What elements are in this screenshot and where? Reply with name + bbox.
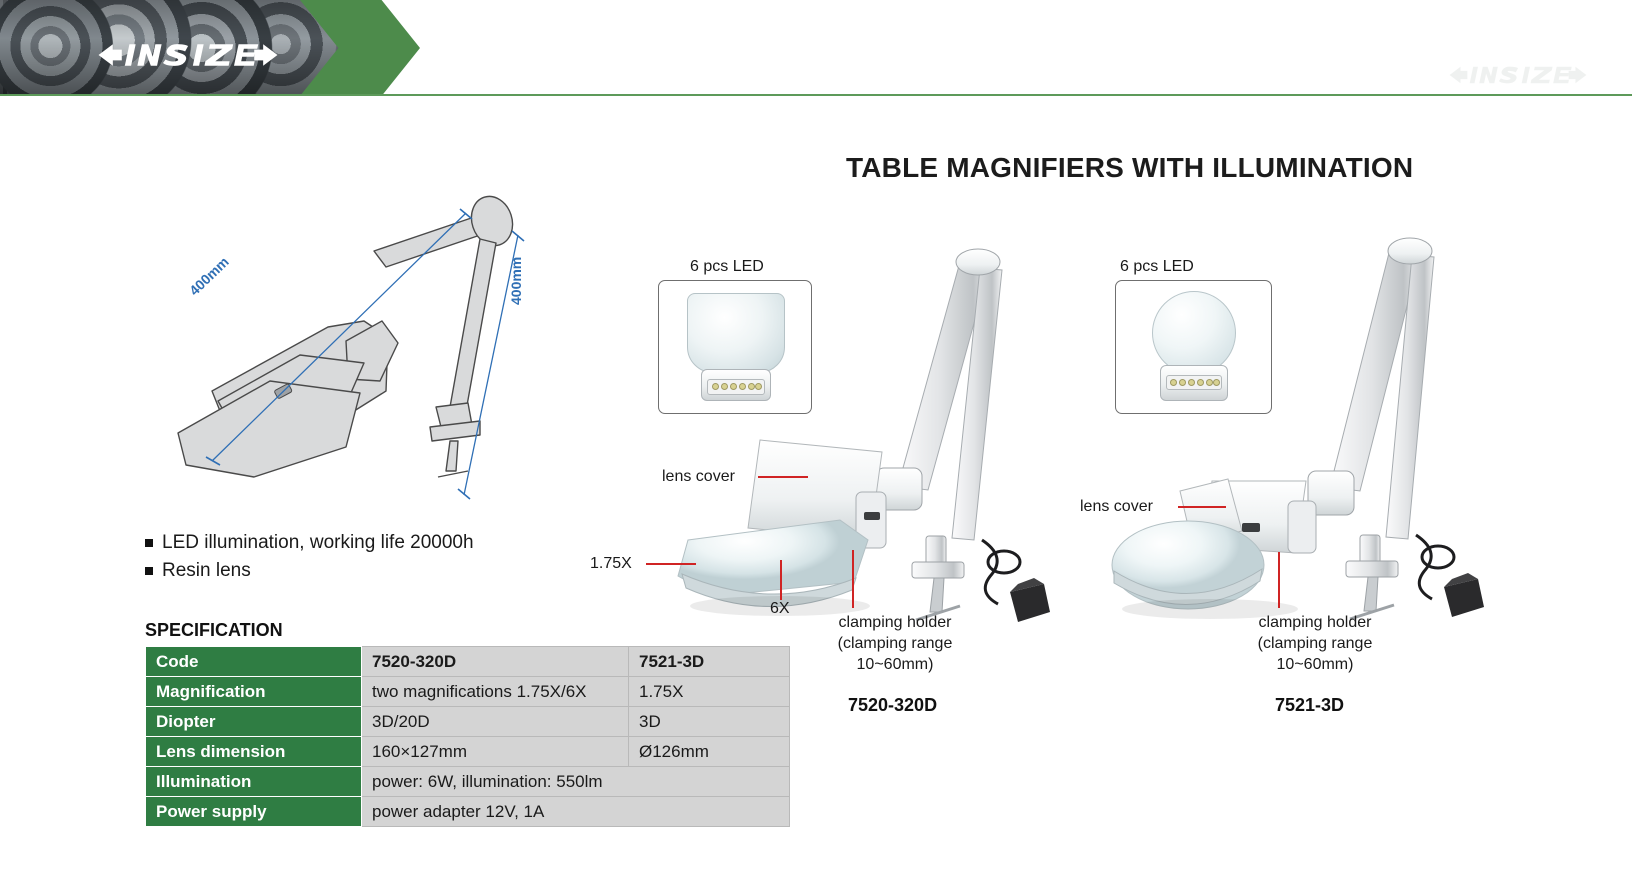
clamp-caption-line-3: 10~60mm) [770,654,1020,675]
header-green-rule [0,94,1632,96]
specification-heading: SPECIFICATION [145,620,283,641]
feature-text: LED illumination, working life 20000h [162,530,474,556]
product-photo-7521 [1060,235,1490,655]
leader-line-clamp [852,550,854,608]
callout-lens-cover: lens cover [662,468,735,486]
row-value-span: power adapter 12V, 1A [362,797,790,827]
product-panel-7521-3D: 6 pcs LED [1010,230,1480,730]
row-value-7520: two magnifications 1.75X/6X [362,677,629,707]
callout-lens-cover: lens cover [1080,498,1153,516]
feature-item: Resin lens [145,558,665,584]
model-label-7521-3D: 7521-3D [1275,695,1344,716]
clamp-caption-line-1: clamping holder [770,612,1020,633]
catalog-page: TABLE MAGNIFIERS WITH ILLUMINATION [0,0,1632,895]
clamp-caption-line-3: 10~60mm) [1190,654,1440,675]
clamp-caption-line-1: clamping holder [1190,612,1440,633]
row-value-7521: Ø126mm [629,737,790,767]
feature-item: LED illumination, working life 20000h [145,530,665,556]
row-value-7520: 160×127mm [362,737,629,767]
row-value-7520: 7520-320D [362,647,629,677]
clamp-caption-line-2: (clamping range [1190,633,1440,654]
leader-line-lens-cover [1178,506,1226,508]
row-label: Illumination [146,767,362,797]
model-label-7520-320D: 7520-320D [848,695,937,716]
row-label: Code [146,647,362,677]
clamping-holder-caption: clamping holder (clamping range 10~60mm) [1190,612,1440,675]
leader-line-6x [780,560,782,600]
table-row: Illumination power: 6W, illumination: 55… [146,767,790,797]
bullet-square-icon [145,539,153,547]
insize-logo [98,38,278,72]
row-label: Magnification [146,677,362,707]
leader-line-lens-cover [758,476,808,478]
insize-watermark [1438,62,1598,88]
row-value-span: power: 6W, illumination: 550lm [362,767,790,797]
bullet-square-icon [145,567,153,575]
technical-drawing: 400mm 400mm [150,195,570,525]
clamping-holder-caption: clamping holder (clamping range 10~60mm) [770,612,1020,675]
row-label: Lens dimension [146,737,362,767]
table-row: Power supply power adapter 12V, 1A [146,797,790,827]
row-value-7520: 3D/20D [362,707,629,737]
table-row: Lens dimension 160×127mm Ø126mm [146,737,790,767]
callout-magnification-175x: 1.75X [590,555,632,573]
leader-line-175x [646,563,696,565]
dimension-label-arm-lower: 400mm [508,257,524,305]
product-panel-7520-320D: 6 pcs LED [590,230,1060,730]
lamp-line-drawing [150,195,570,525]
row-label: Diopter [146,707,362,737]
leader-line-clamp [1278,552,1280,608]
product-photo-7520 [630,240,1060,660]
feature-list: LED illumination, working life 20000h Re… [145,530,665,586]
feature-text: Resin lens [162,558,251,584]
clamp-caption-line-2: (clamping range [770,633,1020,654]
page-title: TABLE MAGNIFIERS WITH ILLUMINATION [846,152,1413,184]
row-label: Power supply [146,797,362,827]
page-header [0,0,1632,96]
